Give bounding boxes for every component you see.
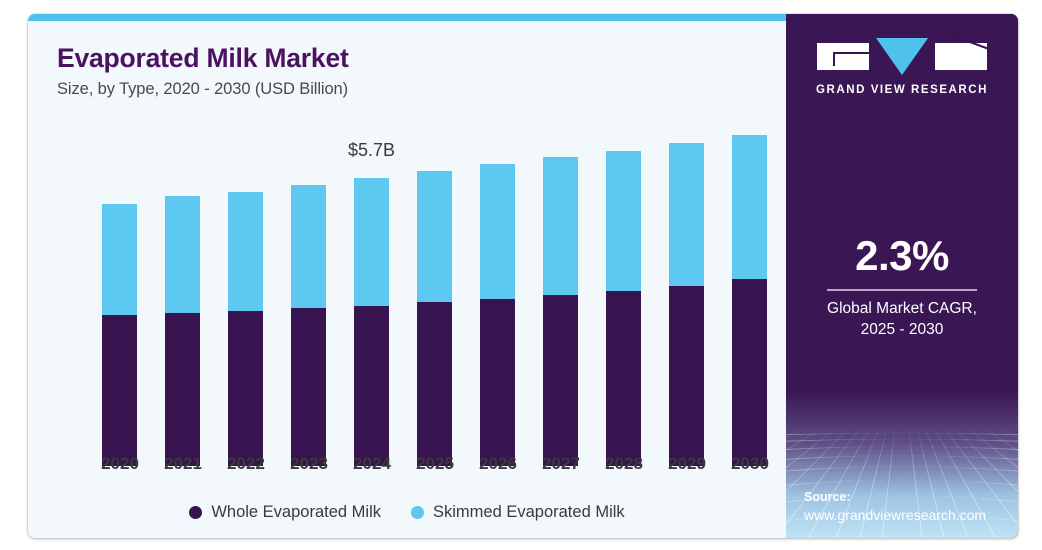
bar-segment-whole	[669, 286, 704, 466]
bar-segment-whole	[480, 299, 515, 466]
source-block: Source: www.grandviewresearch.com	[804, 490, 1014, 524]
value-callout-label: $5.7B	[327, 140, 417, 161]
cagr-value: 2.3%	[786, 232, 1018, 280]
bar-segment-skimmed	[669, 143, 704, 286]
legend-item-whole: Whole Evaporated Milk	[189, 503, 381, 522]
cagr-divider	[827, 289, 977, 291]
x-axis-label-2020: 2020	[90, 454, 150, 474]
x-axis-label-2028: 2028	[594, 454, 654, 474]
chart-legend: Whole Evaporated Milk Skimmed Evaporated…	[28, 503, 786, 522]
cagr-caption-line-2: 2025 - 2030	[786, 320, 1018, 341]
bar-2024[interactable]	[354, 178, 389, 466]
bar-2023[interactable]	[291, 185, 326, 466]
bar-2026[interactable]	[480, 164, 515, 466]
x-axis-label-2022: 2022	[216, 454, 276, 474]
bar-segment-whole	[354, 306, 389, 466]
infographic-card: Evaporated Milk Market Size, by Type, 20…	[28, 14, 1018, 538]
brand-logo: GRAND VIEW RESEARCH	[786, 38, 1018, 96]
brand-panel: GRAND VIEW RESEARCH 2.3% Global Market C…	[786, 14, 1018, 538]
bar-segment-whole	[606, 291, 641, 466]
bar-segment-whole	[291, 308, 326, 466]
bar-segment-skimmed	[228, 192, 263, 311]
bar-2027[interactable]	[543, 157, 578, 466]
bar-2025[interactable]	[417, 171, 452, 466]
bar-segment-whole	[417, 302, 452, 466]
bar-segment-skimmed	[102, 204, 137, 315]
x-axis-label-2030: 2030	[720, 454, 780, 474]
bar-segment-whole	[732, 279, 767, 466]
logo-r-icon	[935, 43, 987, 70]
chart-panel: Evaporated Milk Market Size, by Type, 20…	[28, 14, 786, 538]
x-axis-label-2021: 2021	[153, 454, 213, 474]
cagr-block: 2.3% Global Market CAGR, 2025 - 2030	[786, 232, 1018, 341]
bar-segment-skimmed	[543, 157, 578, 295]
brand-wordmark: GRAND VIEW RESEARCH	[786, 84, 1018, 96]
source-url[interactable]: www.grandviewresearch.com	[804, 506, 1014, 524]
bar-segment-skimmed	[606, 151, 641, 291]
x-axis-label-2023: 2023	[279, 454, 339, 474]
legend-swatch-whole	[189, 506, 202, 519]
cagr-caption-line-1: Global Market CAGR,	[786, 299, 1018, 320]
legend-swatch-skimmed	[411, 506, 424, 519]
bar-segment-skimmed	[417, 171, 452, 302]
source-label: Source:	[804, 490, 1014, 506]
logo-v-triangle-icon	[876, 38, 928, 75]
x-axis-label-2026: 2026	[468, 454, 528, 474]
bar-segment-whole	[165, 313, 200, 466]
bar-segment-skimmed	[291, 185, 326, 308]
legend-item-skimmed: Skimmed Evaporated Milk	[411, 503, 625, 522]
bar-segment-skimmed	[480, 164, 515, 299]
bar-segment-whole	[543, 295, 578, 466]
bar-2021[interactable]	[165, 196, 200, 466]
legend-label-skimmed: Skimmed Evaporated Milk	[433, 503, 625, 522]
bar-segment-whole	[102, 315, 137, 466]
logo-g-icon	[817, 43, 869, 70]
bar-segment-skimmed	[165, 196, 200, 313]
legend-label-whole: Whole Evaporated Milk	[211, 503, 381, 522]
bar-2030[interactable]	[732, 135, 767, 466]
bar-segment-whole	[228, 311, 263, 466]
stacked-bar-plot: $5.7B 2020202120222023202420252026202720…	[28, 14, 786, 538]
x-axis-label-2025: 2025	[405, 454, 465, 474]
bar-segment-skimmed	[354, 178, 389, 306]
bar-2022[interactable]	[228, 192, 263, 466]
x-axis-label-2024: 2024	[342, 454, 402, 474]
x-axis-label-2029: 2029	[657, 454, 717, 474]
x-axis-label-2027: 2027	[531, 454, 591, 474]
bar-2028[interactable]	[606, 151, 641, 466]
logo-marks	[786, 38, 1018, 75]
bar-2020[interactable]	[102, 204, 137, 466]
bar-2029[interactable]	[669, 143, 704, 466]
bar-segment-skimmed	[732, 135, 767, 279]
